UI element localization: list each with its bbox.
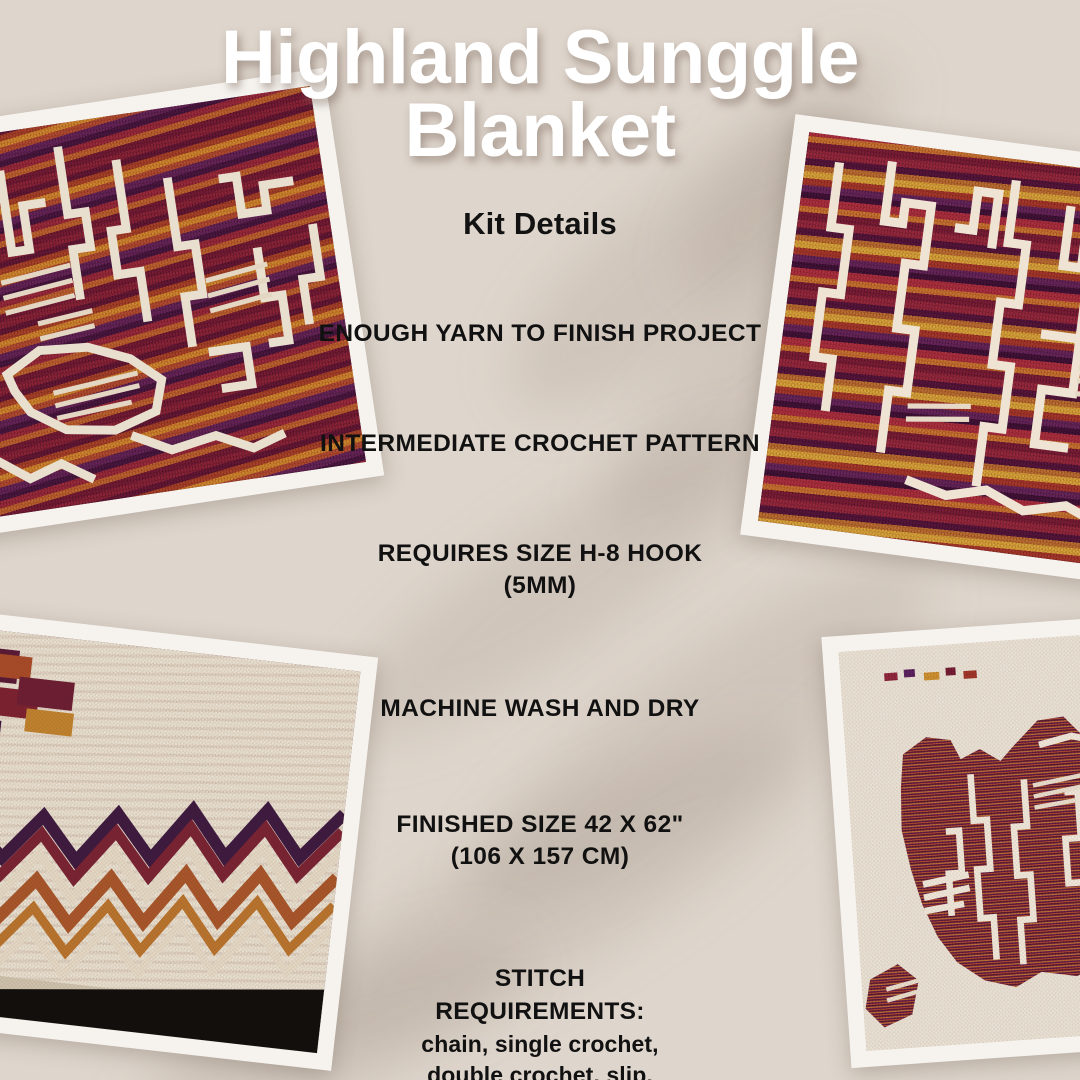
spec-stitch-line2: double crochet, slip, — [260, 1060, 820, 1080]
spec-yarn-text: ENOUGH YARN TO FINISH PROJECT — [260, 320, 820, 348]
spec-stitch-heading-line1: STITCH — [260, 963, 820, 996]
spec-stitch-requirements: STITCH REQUIREMENTS: chain, single croch… — [260, 963, 820, 1080]
spec-pattern: INTERMEDIATE CROCHET PATTERN — [260, 430, 820, 458]
spec-stitch-heading-line2: REQUIREMENTS: — [260, 996, 820, 1029]
spec-size-line2: (106 X 157 CM) — [260, 841, 820, 873]
text-column: Highland Sunggle Blanket Kit Details ENO… — [0, 0, 1080, 1080]
spec-stitch-line1: chain, single crochet, — [260, 1029, 820, 1060]
spec-care-text: MACHINE WASH AND DRY — [260, 695, 820, 723]
kit-details-subtitle: Kit Details — [463, 206, 617, 242]
spec-pattern-text: INTERMEDIATE CROCHET PATTERN — [260, 430, 820, 458]
spec-hook-line1: REQUIRES SIZE H-8 HOOK — [260, 538, 820, 570]
poster-canvas: Highland Sunggle Blanket Kit Details ENO… — [0, 0, 1080, 1080]
spec-yarn: ENOUGH YARN TO FINISH PROJECT — [260, 320, 820, 348]
spec-finished-size: FINISHED SIZE 42 X 62" (106 X 157 CM) — [260, 809, 820, 874]
spec-hook: REQUIRES SIZE H-8 HOOK (5MM) — [260, 538, 820, 603]
spec-hook-line2: (5MM) — [260, 570, 820, 602]
page-title: Highland Sunggle Blanket — [140, 22, 940, 168]
spec-care: MACHINE WASH AND DRY — [260, 695, 820, 723]
spec-size-line1: FINISHED SIZE 42 X 62" — [260, 809, 820, 841]
